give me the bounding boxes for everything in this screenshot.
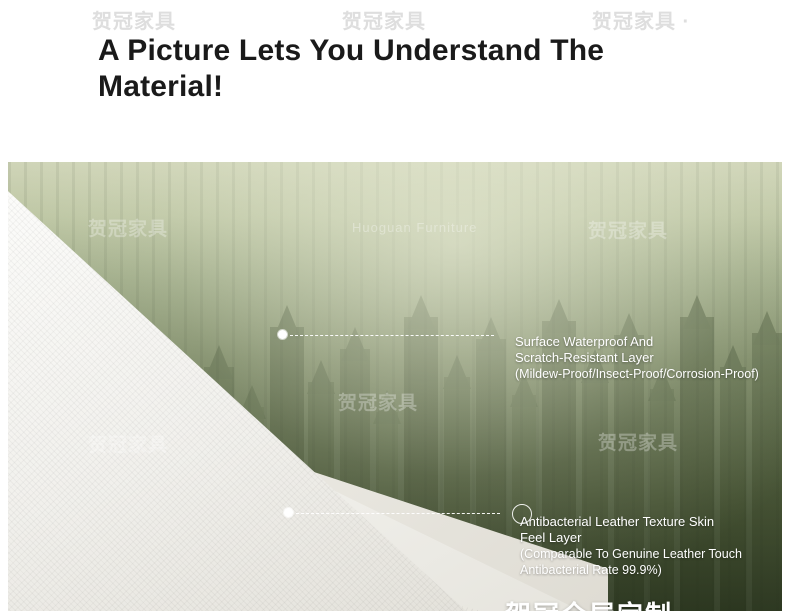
watermark-photo-4: 贺冠家具 — [598, 428, 678, 455]
callout-title-leather-layer: Antibacterial Leather Texture Skin Feel … — [520, 514, 714, 545]
callout-sub-leather-layer: (Comparable To Genuine Leather Touch Ant… — [520, 546, 780, 578]
watermark-photo-latin: Huoguan Furniture — [352, 220, 477, 235]
watermark-photo-1: 贺冠家具 — [88, 214, 168, 241]
material-photo: 贺冠家具 贺冠家具 贺冠家具 贺冠家具 贺冠家具 Huoguan Furnitu… — [8, 162, 782, 611]
page-title-line-2: Material! — [98, 69, 688, 105]
callout-dot-surface-layer — [278, 330, 287, 339]
callout-leader-leather-layer — [296, 513, 500, 514]
callout-title-surface-layer: Surface Waterproof And Scratch-Resistant… — [515, 334, 654, 365]
page-title: A Picture Lets You Understand The Materi… — [98, 33, 688, 105]
page-title-line-1: A Picture Lets You Understand The — [98, 33, 688, 69]
callout-text-leather-layer: Antibacterial Leather Texture Skin Feel … — [520, 498, 780, 594]
callout-sub-surface-layer: (Mildew-Proof/Insect-Proof/Corrosion-Pro… — [515, 366, 782, 382]
watermark-photo-3: 贺冠家具 — [88, 430, 168, 457]
promo-page: 贺冠家具 贺冠家具 贺冠家具 · A Picture Lets You Unde… — [0, 0, 790, 611]
callout-text-surface-layer: Surface Waterproof And Scratch-Resistant… — [515, 318, 782, 398]
watermark-photo-2: 贺冠家具 — [588, 216, 668, 243]
bottom-brand-text: 贺冠全屋定制 — [505, 595, 673, 611]
header-band: 贺冠家具 贺冠家具 贺冠家具 · A Picture Lets You Unde… — [0, 0, 790, 152]
watermark-photo-5: 贺冠家具 — [338, 388, 418, 415]
callout-dot-leather-layer — [284, 508, 293, 517]
callout-leader-surface-layer — [290, 335, 494, 336]
